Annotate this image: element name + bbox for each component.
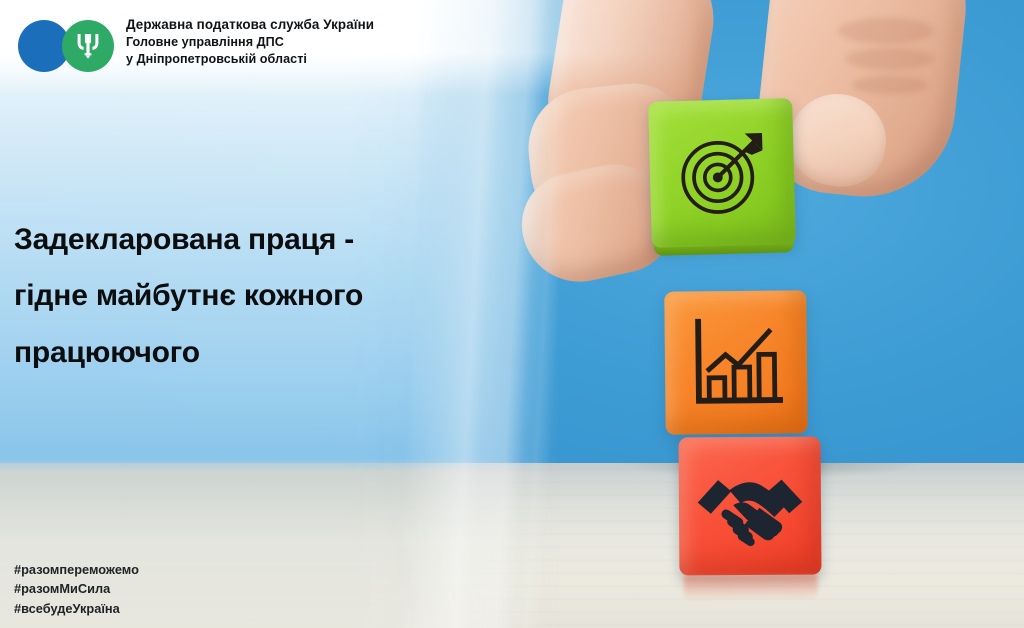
- knuckle-crease-1: [838, 18, 934, 44]
- knuckle-crease-2: [846, 48, 934, 70]
- handshake-icon: [679, 437, 822, 576]
- logo-marks: [14, 14, 120, 70]
- organisation-logo: Державна податкова служба України Головн…: [14, 14, 374, 70]
- knuckle-crease-3: [852, 76, 928, 94]
- green-block: [648, 98, 796, 248]
- red-block: [679, 437, 822, 576]
- headline: Задекларована праця - гідне майбутнє кож…: [14, 212, 454, 381]
- headline-line-3: працюючого: [14, 325, 454, 381]
- org-name-line1: Державна податкова служба України: [126, 17, 374, 33]
- bar-chart-growth-icon: [664, 290, 807, 434]
- ukraine-trident-icon: [75, 31, 101, 61]
- hashtag-1: #разомпереможемо: [14, 560, 139, 579]
- red-block-reflection: [683, 575, 817, 602]
- organisation-text: Державна податкова служба України Головн…: [126, 17, 374, 67]
- green-circle-icon: [62, 20, 114, 72]
- headline-line-2: гідне майбутнє кожного: [14, 268, 454, 324]
- org-name-line3: у Дніпропетровській області: [126, 52, 374, 67]
- target-arrow-icon: [648, 98, 796, 248]
- headline-line-1: Задекларована праця -: [14, 212, 454, 268]
- promo-banner: Державна податкова служба України Головн…: [0, 0, 1024, 628]
- hashtag-2: #разомМиСила: [14, 579, 139, 598]
- org-name-line2: Головне управління ДПС: [126, 35, 374, 50]
- orange-block: [664, 290, 807, 434]
- hashtag-list: #разомпереможемо #разомМиСила #всебудеУк…: [14, 560, 139, 618]
- hashtag-3: #всебудеУкраїна: [14, 599, 139, 618]
